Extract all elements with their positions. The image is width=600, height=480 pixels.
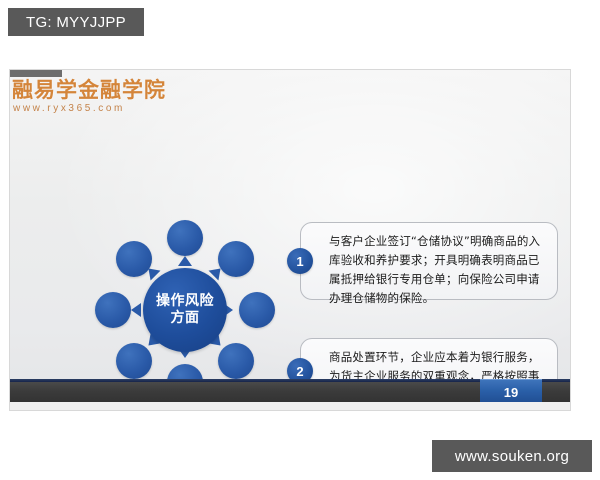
satellite-circle-se (218, 343, 254, 379)
watermark-bottom-right: www.souken.org (432, 440, 592, 472)
brand-logo: 融易学金融学院 www.ryx365.com (10, 78, 172, 114)
page-number-tab: 19 (480, 379, 542, 404)
logo-url-text: www.ryx365.com (10, 103, 172, 114)
content-box-1-text: 与客户企业签订“仓储协议”明确商品的入库验收和养护要求；开具明确表明商品已属抵押… (301, 223, 557, 317)
arrow-icon-n (178, 256, 192, 266)
satellite-circle-w (95, 292, 131, 328)
logo-name-text: 融易学金融学院 (10, 78, 172, 102)
hub-label-line1: 操作风险 (156, 293, 214, 310)
watermark-top-left: TG: MYYJJPP (8, 8, 144, 36)
presentation-slide: 融易学金融学院 www.ryx365.com 操作风险 方面 与客户企业签订“仓… (10, 70, 570, 410)
satellite-circle-e (239, 292, 275, 328)
satellite-circle-n (167, 220, 203, 256)
hub-label-line2: 方面 (171, 310, 200, 327)
logo-accent-bar (10, 70, 62, 77)
slide-bottom-margin (10, 402, 570, 410)
diagram-hub: 操作风险 方面 (143, 268, 227, 352)
content-box-1: 与客户企业签订“仓储协议”明确商品的入库验收和养护要求；开具明确表明商品已属抵押… (300, 222, 558, 300)
satellite-circle-sw (116, 343, 152, 379)
content-badge-1: 1 (287, 248, 313, 274)
arrow-icon-w (131, 303, 141, 317)
radial-diagram: 操作风险 方面 (95, 220, 275, 400)
